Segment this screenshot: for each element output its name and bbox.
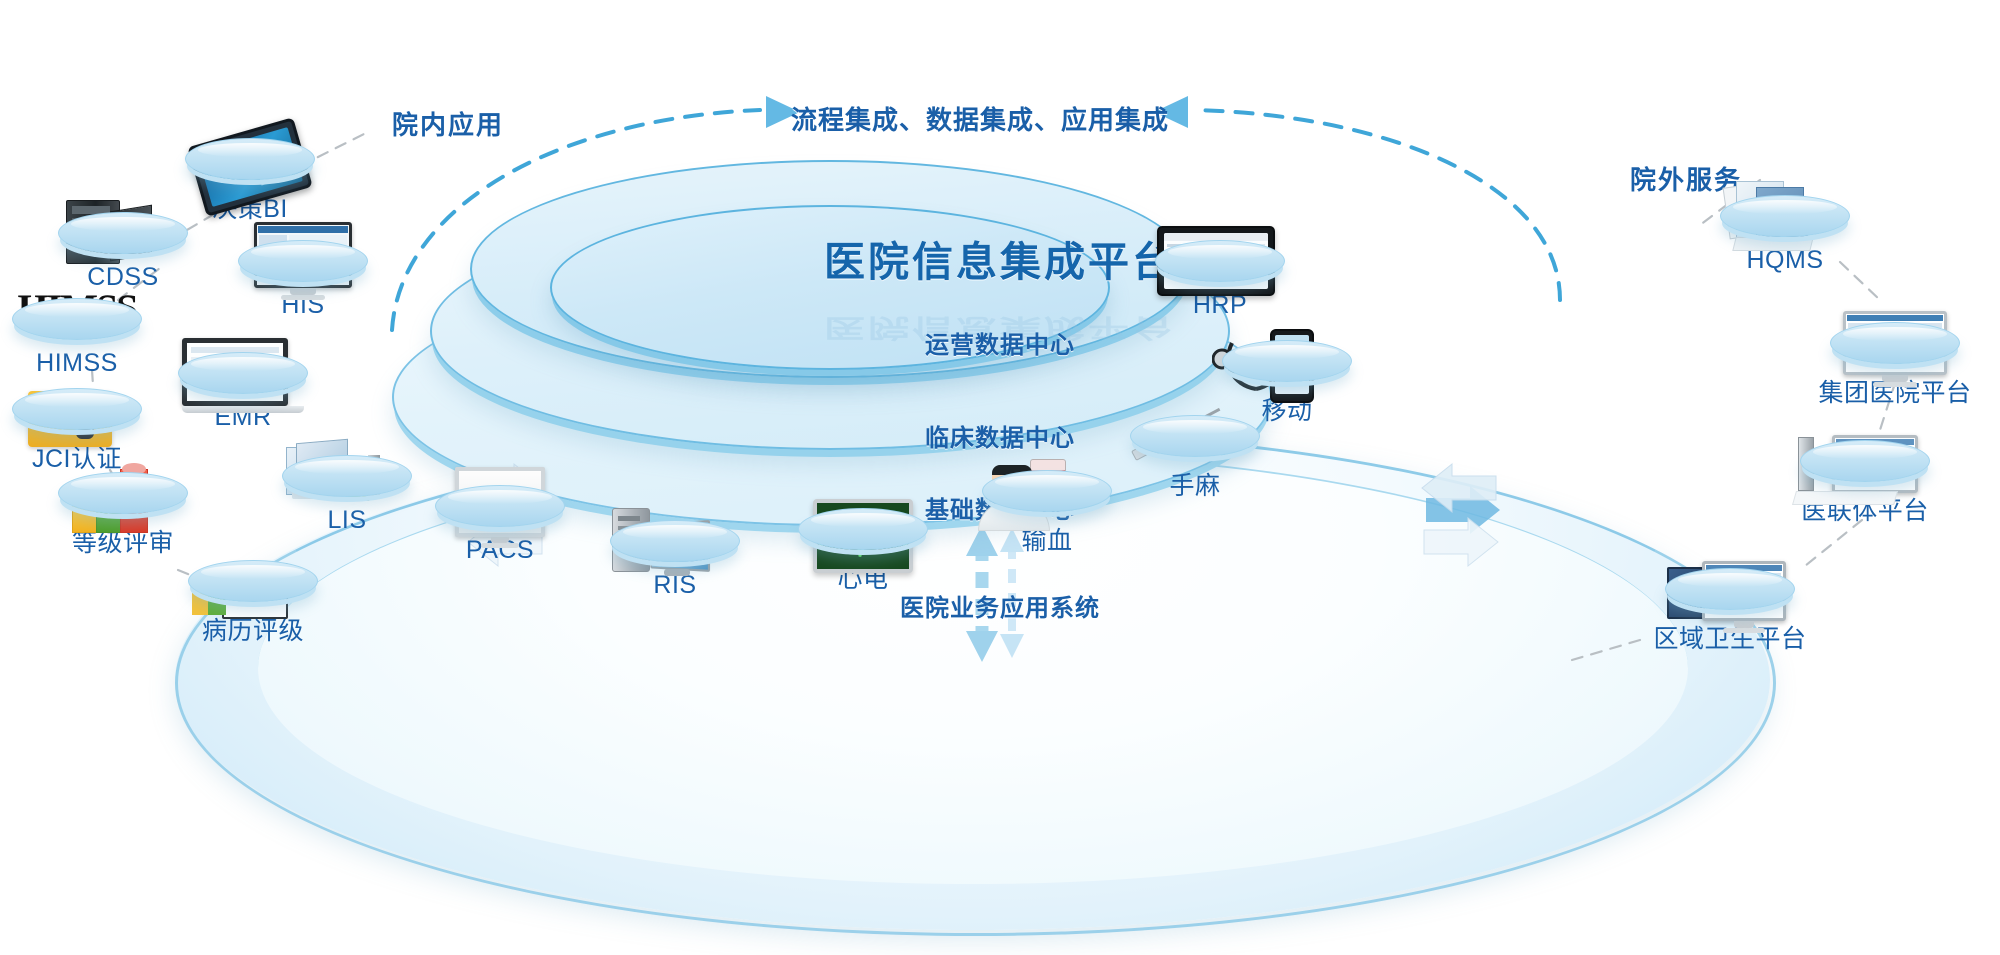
node-lis[interactable]: LIS [262, 455, 432, 535]
node-his[interactable]: HIS [218, 240, 388, 320]
node-group-hospital-platform[interactable]: 集团医院平台 [1810, 322, 1980, 409]
node-himss[interactable]: HIMSS HIMSS [0, 298, 162, 378]
node-pedestal [58, 472, 188, 514]
node-pedestal [12, 298, 142, 340]
node-regional-health-platform[interactable]: 区域卫生平台 [1645, 568, 1815, 655]
node-pedestal [12, 388, 142, 430]
node-medical-union-platform[interactable]: 医联体平台 [1780, 440, 1950, 527]
node-pedestal [798, 508, 928, 550]
node-pedestal [188, 560, 318, 602]
node-pedestal [178, 352, 308, 394]
node-pedestal [58, 212, 188, 254]
node-pedestal [1830, 322, 1960, 364]
node-mobile[interactable]: 移动 [1202, 340, 1372, 427]
node-anesthesia[interactable]: 手麻 [1110, 415, 1280, 502]
node-ris[interactable]: RIS [590, 520, 760, 600]
node-hqms[interactable]: HQMS [1700, 195, 1870, 275]
node-pedestal [982, 470, 1112, 512]
integration-banner: 流程集成、数据集成、应用集成 [770, 100, 1190, 137]
diagram-canvas: 医院信息集成平台 医院信息集成平台 运营数据中心 临床数据中心 基础数据中心 医… [0, 0, 2000, 955]
node-emr[interactable]: EMR [158, 352, 328, 432]
node-pedestal [435, 485, 565, 527]
node-pacs[interactable]: PACS [415, 485, 585, 565]
node-pedestal [1155, 240, 1285, 282]
node-pedestal [282, 455, 412, 497]
node-pedestal [610, 520, 740, 562]
node-pedestal [185, 138, 315, 180]
node-pedestal [1222, 340, 1352, 382]
node-pedestal [238, 240, 368, 282]
node-grade-review[interactable]: 等级评审 [38, 472, 208, 559]
node-pedestal [1720, 195, 1850, 237]
node-pedestal [1665, 568, 1795, 610]
node-emr-grading[interactable]: 病历评级 [168, 560, 338, 647]
node-pedestal [1800, 440, 1930, 482]
node-ecg[interactable]: 心电 [778, 508, 948, 595]
section-header-inhospital: 院内应用 [392, 105, 504, 142]
node-transfusion[interactable]: 输血 [962, 470, 1132, 557]
node-hrp[interactable]: HRP [1135, 240, 1305, 320]
